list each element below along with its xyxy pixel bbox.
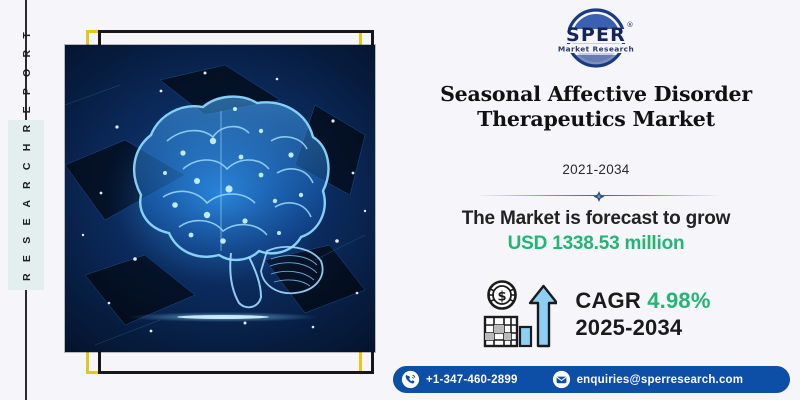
ornamental-divider: [476, 194, 722, 197]
email-contact[interactable]: enquiries@sperresearch.com: [552, 370, 744, 389]
logo-tagline: Market Research: [558, 45, 634, 54]
cagr-headline: CAGR 4.98%: [575, 287, 710, 314]
title-line-1: Seasonal Affective Disorder: [398, 82, 794, 107]
report-banner: R E S E A R C H R E P O R T: [0, 0, 800, 400]
forecast-value: USD 1338.53 million: [392, 233, 800, 255]
brain-artwork-image: [65, 45, 375, 352]
title-line-2: Therapeutics Market: [398, 107, 794, 132]
phone-contact[interactable]: +1-347-460-2899: [401, 370, 518, 389]
contact-bar: +1-347-460-2899 enquiries@sperresearch.c…: [393, 366, 790, 393]
diamond-ornament-icon: [594, 191, 605, 202]
email-address: enquiries@sperresearch.com: [577, 374, 744, 386]
sper-logo: SPER ® Market Research: [542, 7, 650, 69]
forecast-label: The Market is forecast to grow: [392, 208, 800, 230]
logo-wordmark: SPER: [566, 24, 626, 46]
envelope-icon: [552, 370, 571, 389]
forecast-years: 2021-2034: [392, 162, 800, 177]
cagr-text: CAGR 4.98% 2025-2034: [575, 287, 710, 341]
phone-number: +1-347-460-2899: [426, 374, 518, 386]
cagr-label: CAGR: [575, 288, 641, 313]
cagr-value: 4.98%: [647, 288, 710, 313]
growth-chart-icon: $: [481, 279, 557, 349]
content-column: SPER ® Market Research Seasonal Affectiv…: [392, 0, 800, 400]
svg-text:$: $: [498, 290, 507, 305]
research-report-label: R E S E A R C H R E P O R T: [21, 111, 33, 281]
registered-mark: ®: [627, 21, 634, 29]
cagr-period: 2025-2034: [575, 314, 710, 341]
phone-icon: [401, 370, 420, 389]
cagr-block: $ CAGR 4.98% 2025-2: [392, 277, 800, 351]
page-title: Seasonal Affective Disorder Therapeutics…: [398, 82, 794, 132]
